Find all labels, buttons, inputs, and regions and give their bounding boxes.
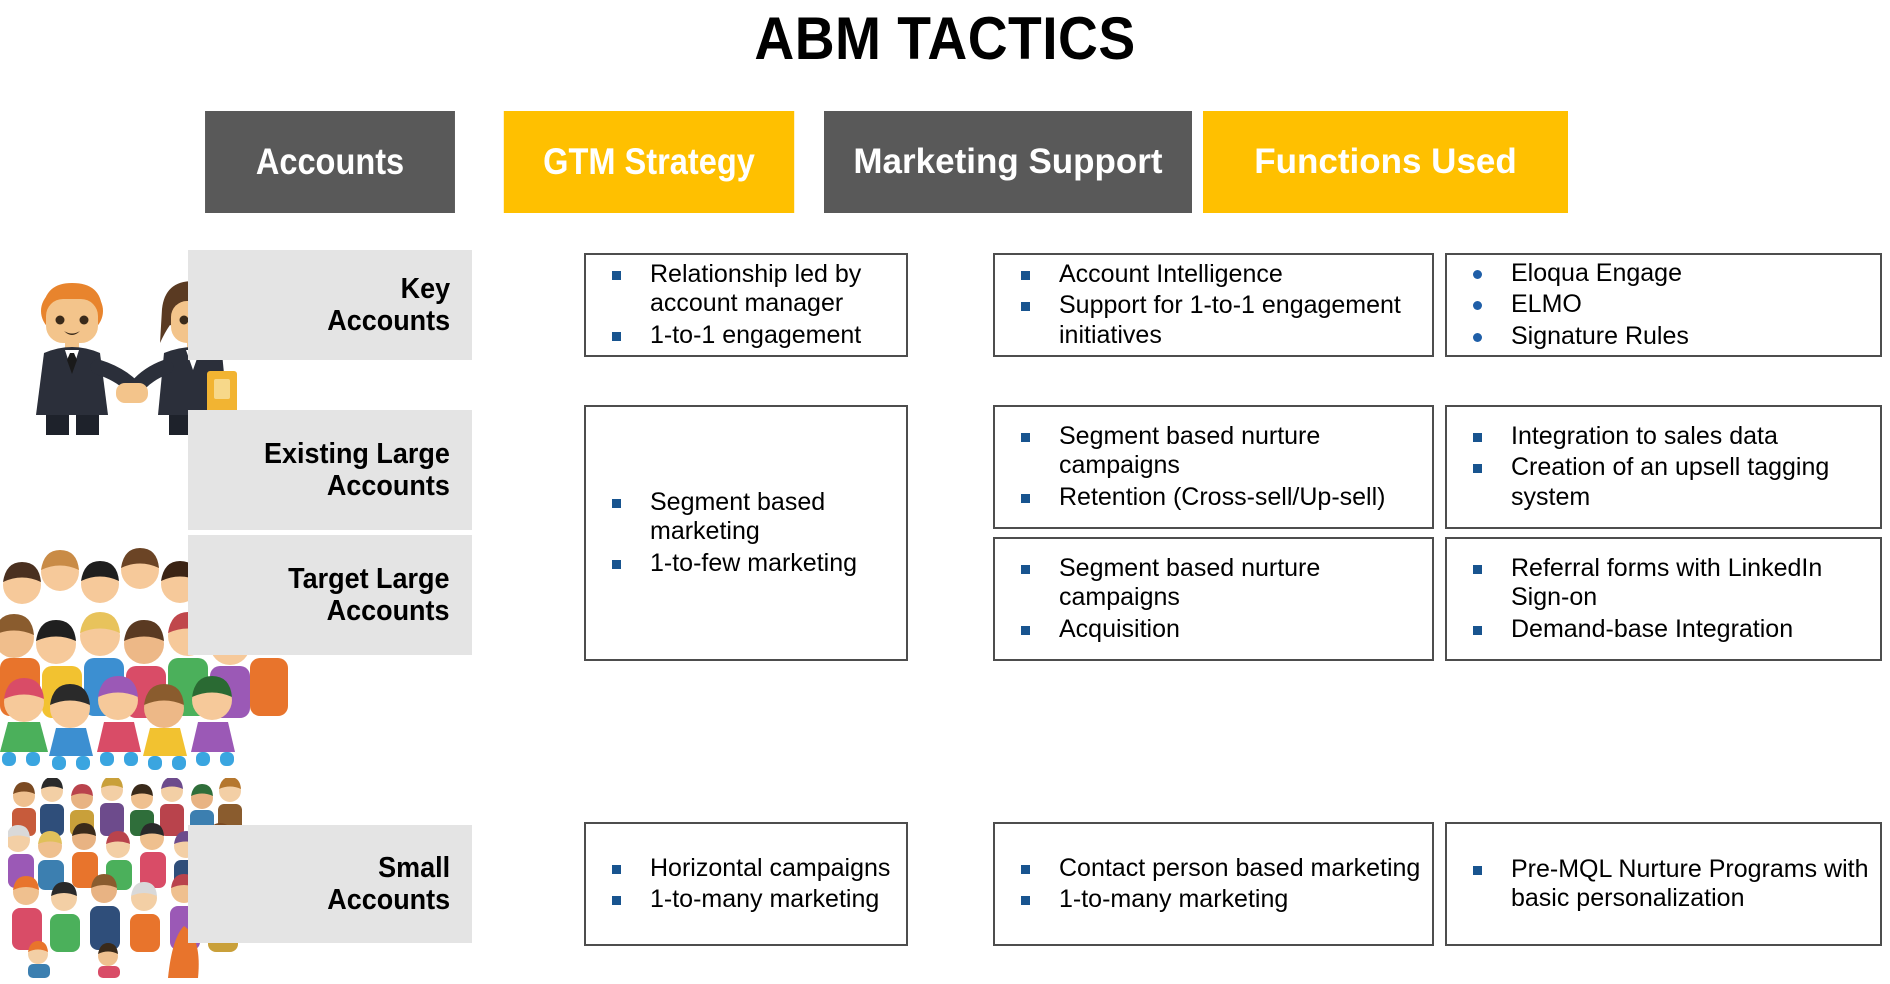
account-label-small-accounts: Small Accounts [188,825,472,943]
list-item: Horizontal campaigns [600,854,896,883]
bullet-list-existing-large-accounts-functions: Integration to sales data Creation of an… [1461,422,1870,512]
list-item: Pre-MQL Nurture Programs with basic pers… [1461,855,1870,914]
list-item: Eloqua Engage [1461,259,1870,288]
cell-key-accounts-functions: Eloqua Engage ELMO Signature Rules [1445,253,1882,357]
account-label-small-accounts-line1: Small [327,852,450,884]
cell-large-accounts-gtm: Segment based marketing 1-to-few marketi… [584,405,908,661]
account-label-target-large-accounts-line2: Accounts [289,595,450,627]
bullet-list-small-accounts-functions: Pre-MQL Nurture Programs with basic pers… [1461,855,1870,914]
list-item: Signature Rules [1461,322,1870,351]
cell-small-accounts-marketing: Contact person based marketing 1-to-many… [993,822,1434,946]
list-item: Relationship led by account manager [600,260,896,319]
list-item: Creation of an upsell tagging system [1461,453,1870,512]
list-item: Segment based marketing [600,488,896,547]
list-item: Contact person based marketing [1009,854,1422,883]
bullet-list-existing-large-accounts-marketing: Segment based nurture campaigns Retentio… [1009,422,1422,512]
bullet-list-target-large-accounts-marketing: Segment based nurture campaigns Acquisit… [1009,554,1422,644]
account-label-small-accounts-line2: Accounts [327,884,450,916]
list-item: 1-to-few marketing [600,549,896,578]
bullet-list-large-accounts-gtm: Segment based marketing 1-to-few marketi… [600,488,896,578]
account-label-target-large-accounts-line1: Target Large [289,563,450,595]
account-label-key-accounts-line1: Key [327,273,450,305]
list-item: Referral forms with LinkedIn Sign-on [1461,554,1870,613]
bullet-list-key-accounts-marketing: Account Intelligence Support for 1-to-1 … [1009,260,1422,350]
list-item: Retention (Cross-sell/Up-sell) [1009,483,1422,512]
list-item: Segment based nurture campaigns [1009,422,1422,481]
cell-existing-large-accounts-functions: Integration to sales data Creation of an… [1445,405,1882,529]
account-label-existing-large-accounts-line1: Existing Large [264,438,450,470]
bullet-list-key-accounts-functions: Eloqua Engage ELMO Signature Rules [1461,259,1870,351]
account-label-target-large-accounts: Target Large Accounts [188,535,472,655]
cell-target-large-accounts-marketing: Segment based nurture campaigns Acquisit… [993,537,1434,661]
account-label-existing-large-accounts: Existing Large Accounts [188,410,472,530]
list-item: Demand-base Integration [1461,615,1870,644]
bullet-list-small-accounts-gtm: Horizontal campaigns 1-to-many marketing [600,854,896,915]
cell-existing-large-accounts-marketing: Segment based nurture campaigns Retentio… [993,405,1434,529]
list-item: 1-to-many marketing [1009,885,1422,914]
list-item: ELMO [1461,290,1870,319]
list-item: Support for 1-to-1 engagement initiative… [1009,291,1422,350]
account-label-key-accounts: Key Accounts [188,250,472,360]
list-item: 1-to-many marketing [600,885,896,914]
cell-key-accounts-marketing: Account Intelligence Support for 1-to-1 … [993,253,1434,357]
account-label-existing-large-accounts-line2: Accounts [264,470,450,502]
list-item: Integration to sales data [1461,422,1870,451]
cell-small-accounts-gtm: Horizontal campaigns 1-to-many marketing [584,822,908,946]
bullet-list-target-large-accounts-functions: Referral forms with LinkedIn Sign-on Dem… [1461,554,1870,644]
cell-small-accounts-functions: Pre-MQL Nurture Programs with basic pers… [1445,822,1882,946]
list-item: Acquisition [1009,615,1422,644]
list-item: Account Intelligence [1009,260,1422,289]
cell-key-accounts-gtm: Relationship led by account manager 1-to… [584,253,908,357]
list-item: Segment based nurture campaigns [1009,554,1422,613]
bullet-list-small-accounts-marketing: Contact person based marketing 1-to-many… [1009,854,1422,915]
account-label-key-accounts-line2: Accounts [327,305,450,337]
tactics-grid: Key Accounts Relationship led by account… [0,0,1890,984]
cell-target-large-accounts-functions: Referral forms with LinkedIn Sign-on Dem… [1445,537,1882,661]
list-item: 1-to-1 engagement [600,321,896,350]
bullet-list-key-accounts-gtm: Relationship led by account manager 1-to… [600,260,896,350]
